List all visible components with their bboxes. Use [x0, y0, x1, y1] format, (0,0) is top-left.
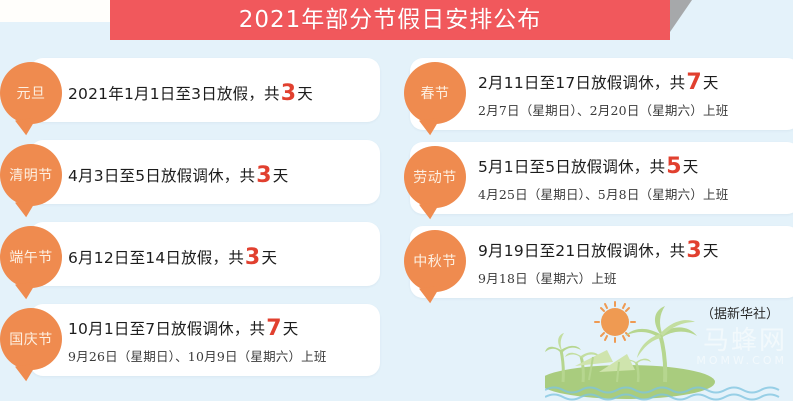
badge-label: 劳动节	[413, 167, 457, 187]
holiday-range-text: 9月19日至21日放假调休，共	[478, 242, 685, 260]
holiday-days-unit: 天	[297, 85, 313, 103]
holiday-days-unit: 天	[703, 242, 719, 260]
holiday-days-number: 3	[685, 238, 703, 263]
holiday-days-number: 3	[280, 81, 298, 106]
top-white-strip	[0, 0, 113, 22]
holiday-days-unit: 天	[273, 167, 289, 185]
holiday-badge-guoqing: 国庆节	[0, 308, 62, 370]
holiday-days-number: 3	[244, 245, 262, 270]
holiday-days-unit: 天	[283, 320, 299, 338]
badge-label: 中秋节	[413, 251, 457, 271]
holiday-workday-note-guoqing: 9月26日（星期日）、10月9日（星期六）上班	[68, 346, 327, 365]
badge-label: 清明节	[9, 165, 53, 185]
holiday-text-chunjie: 2月11日至17日放假调休，共7天	[478, 70, 719, 95]
holiday-text-zhongqiu: 9月19日至21日放假调休，共3天	[478, 238, 719, 263]
holiday-range-text: 4月3日至5日放假调休，共	[68, 167, 255, 185]
badge-label: 春节	[421, 83, 450, 103]
infographic-canvas: 2021年部分节假日安排公布 元旦 2021年1月1日至3日放假，共3天 清明节…	[0, 0, 793, 401]
holiday-badge-zhongqiu: 中秋节	[404, 230, 466, 292]
holiday-days-number: 5	[665, 154, 683, 179]
holiday-badge-chunjie: 春节	[404, 62, 466, 124]
holiday-text-yuandan: 2021年1月1日至3日放假，共3天	[68, 81, 313, 106]
holiday-days-unit: 天	[261, 249, 277, 267]
holiday-days-number: 7	[265, 316, 283, 341]
holiday-text-laodong: 5月1日至5日放假调休，共5天	[478, 154, 698, 179]
holiday-workday-note-zhongqiu: 9月18日（星期六）上班	[478, 268, 617, 287]
page-title: 2021年部分节假日安排公布	[239, 9, 542, 32]
beach-illustration: 马蜂网 MOMW.COM	[545, 300, 793, 401]
sun-icon	[595, 302, 635, 342]
badge-label: 国庆节	[9, 329, 53, 349]
holiday-days-unit: 天	[683, 158, 699, 176]
holiday-days-number: 7	[685, 70, 703, 95]
holiday-workday-note-laodong: 4月25日（星期日）、5月8日（星期六）上班	[478, 184, 728, 203]
badge-label: 端午节	[9, 247, 53, 267]
holiday-text-guoqing: 10月1日至7日放假调休，共7天	[68, 316, 298, 341]
holiday-workday-note-chunjie: 2月7日（星期日）、2月20日（星期六）上班	[478, 100, 728, 119]
holiday-text-qingming: 4月3日至5日放假调休，共3天	[68, 163, 288, 188]
holiday-badge-laodong: 劳动节	[404, 146, 466, 208]
badge-label: 元旦	[17, 83, 46, 103]
ribbon-fold-icon	[670, 0, 692, 32]
title-banner: 2021年部分节假日安排公布	[110, 0, 670, 40]
holiday-range-text: 2021年1月1日至3日放假，共	[68, 85, 280, 103]
holiday-days-unit: 天	[703, 74, 719, 92]
holiday-range-text: 10月1日至7日放假调休，共	[68, 320, 265, 338]
holiday-range-text: 6月12日至14日放假，共	[68, 249, 244, 267]
holiday-range-text: 2月11日至17日放假调休，共	[478, 74, 685, 92]
holiday-text-duanwu: 6月12日至14日放假，共3天	[68, 245, 277, 270]
holiday-badge-yuandan: 元旦	[0, 62, 62, 124]
holiday-badge-qingming: 清明节	[0, 144, 62, 206]
holiday-range-text: 5月1日至5日放假调休，共	[478, 158, 665, 176]
holiday-badge-duanwu: 端午节	[0, 226, 62, 288]
holiday-days-number: 3	[255, 163, 273, 188]
